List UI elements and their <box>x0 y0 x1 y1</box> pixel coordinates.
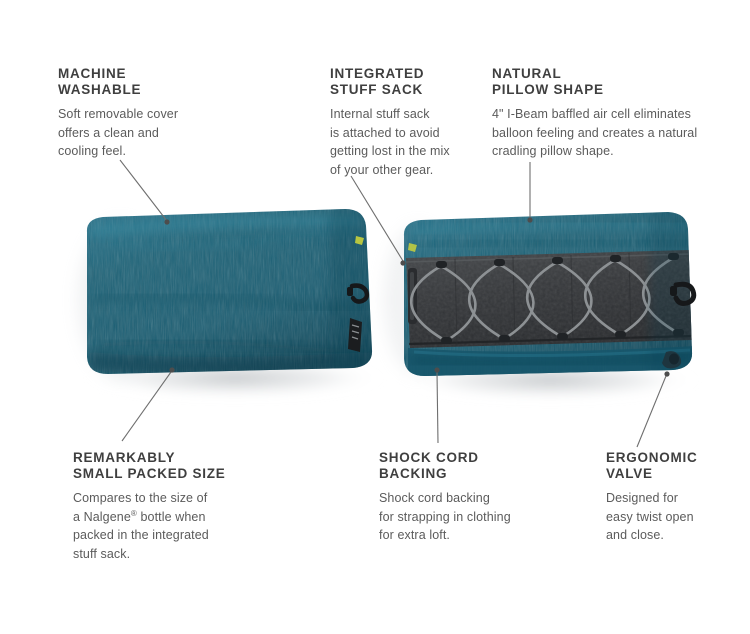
callout-shock-cord-backing: SHOCK CORD BACKING Shock cord backing fo… <box>379 450 559 545</box>
callout-body: Soft removable cover offers a clean and … <box>58 105 238 161</box>
callout-remarkably-small-packed-size: REMARKABLY SMALL PACKED SIZE Compares to… <box>73 450 268 563</box>
left-pillow-fabric-cover <box>78 205 385 398</box>
callout-title: ERGONOMIC VALVE <box>606 450 741 482</box>
infographic-canvas: MACHINE WASHABLE Soft removable cover of… <box>0 0 750 634</box>
right-pillow-stuff-sack-backing <box>384 208 700 400</box>
callout-body: 4" I-Beam baffled air cell eliminates ba… <box>492 105 717 161</box>
leader-machine-washable <box>120 160 167 221</box>
callout-integrated-stuff-sack: INTEGRATED STUFF SACK Internal stuff sac… <box>330 66 500 179</box>
callout-title: MACHINE WASHABLE <box>58 66 238 98</box>
callout-body: Shock cord backing for strapping in clot… <box>379 489 559 545</box>
callout-body: Designed for easy twist open and close. <box>606 489 741 545</box>
callout-title: SHOCK CORD BACKING <box>379 450 559 482</box>
callout-title: INTEGRATED STUFF SACK <box>330 66 500 98</box>
callout-machine-washable: MACHINE WASHABLE Soft removable cover of… <box>58 66 238 161</box>
callout-title: NATURAL PILLOW SHAPE <box>492 66 717 98</box>
callout-title: REMARKABLY SMALL PACKED SIZE <box>73 450 268 482</box>
brand-label-tag <box>348 318 362 352</box>
callout-body: Internal stuff sack is attached to avoid… <box>330 105 500 179</box>
callout-body: Compares to the size of a Nalgene® bottl… <box>73 489 268 563</box>
callout-natural-pillow-shape: NATURAL PILLOW SHAPE 4" I-Beam baffled a… <box>492 66 717 161</box>
callout-ergonomic-valve: ERGONOMIC VALVE Designed for easy twist … <box>606 450 741 545</box>
